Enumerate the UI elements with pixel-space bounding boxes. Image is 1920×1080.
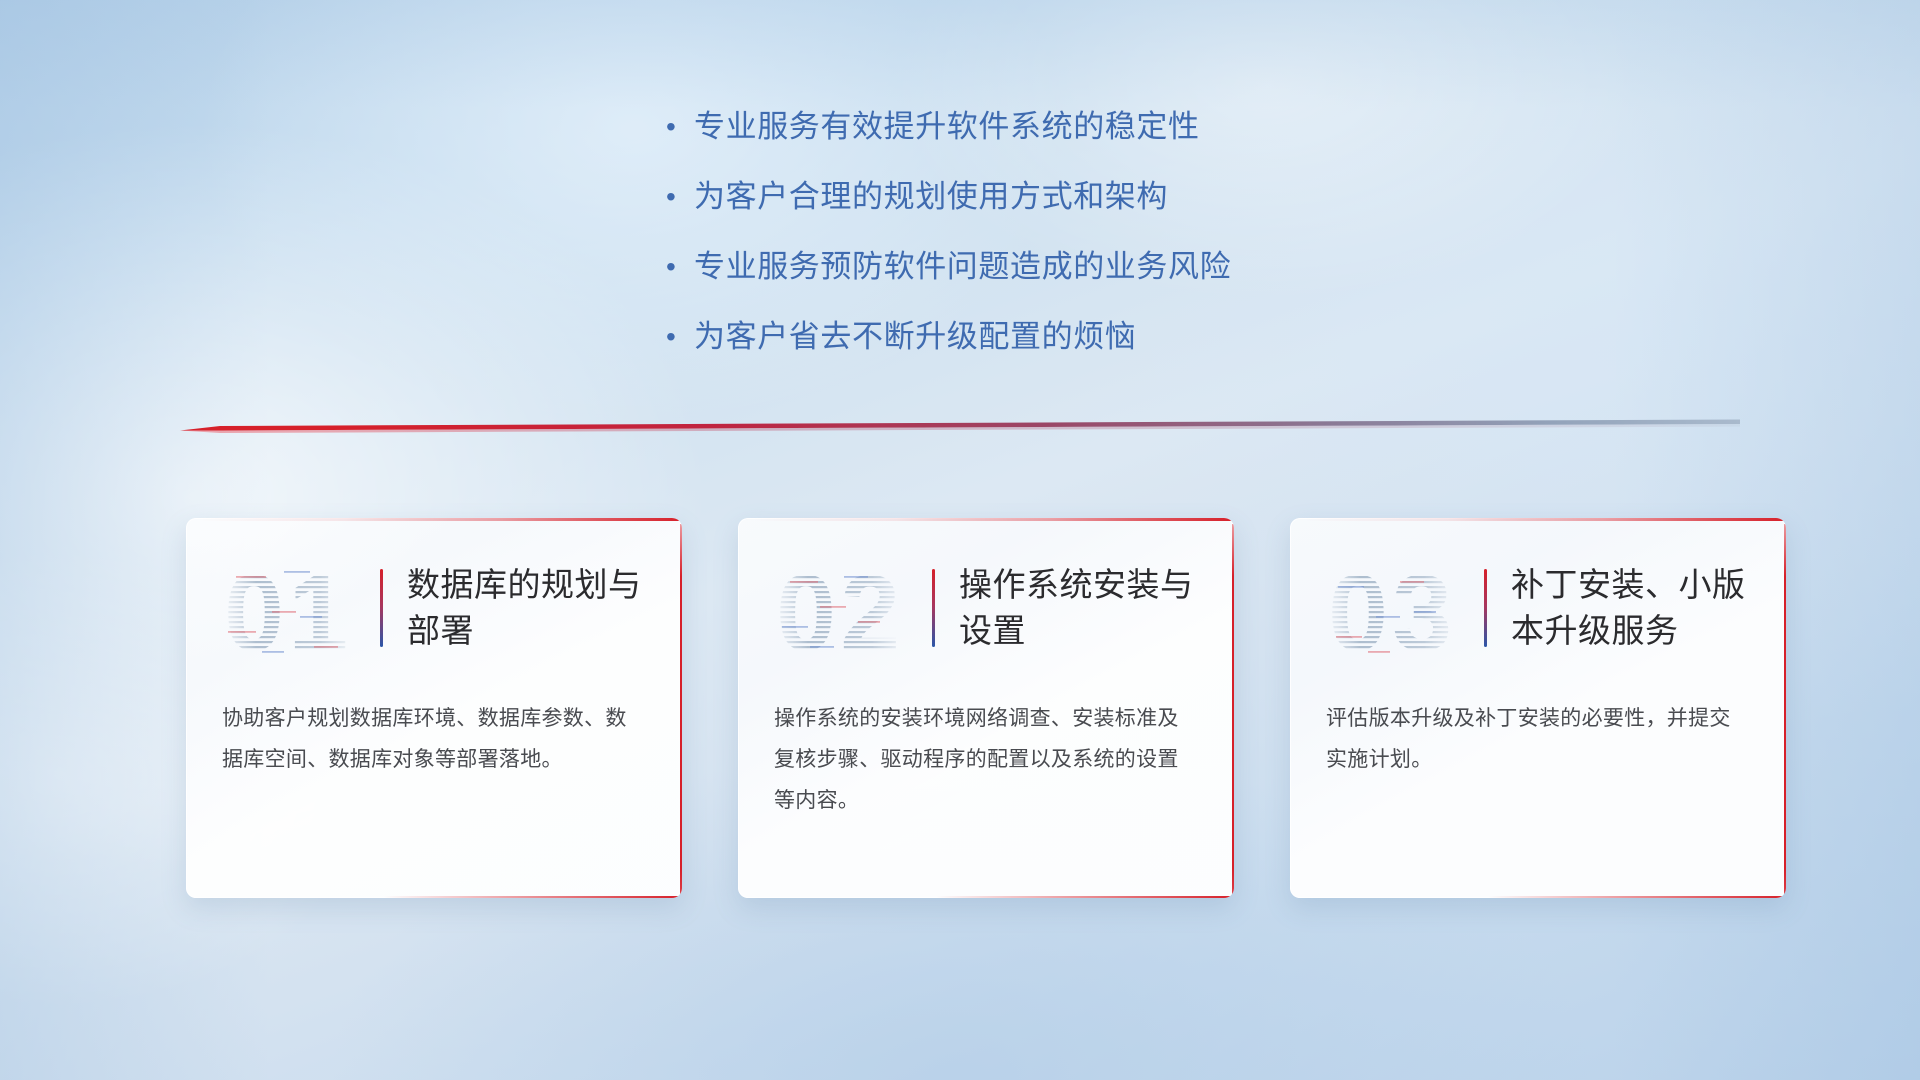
section-divider: [180, 418, 1740, 440]
card-header: 03 补丁安装、小版本升级服务: [1290, 518, 1786, 698]
bullet-text-4: 为客户省去不断升级配置的烦恼: [694, 315, 1136, 359]
bullet-text-2: 为客户合理的规划使用方式和架构: [694, 175, 1168, 219]
card-body-01: 协助客户规划数据库环境、数据库参数、数据库空间、数据库对象等部署落地。: [186, 698, 682, 780]
bullet-dot-icon: •: [660, 175, 694, 219]
feature-card-02[interactable]: 02 操作系统安装与设置: [738, 518, 1234, 898]
svg-text:02: 02: [776, 554, 904, 662]
divider-shape-icon: [180, 418, 1740, 440]
striped-number-icon: 02: [774, 554, 916, 662]
card-number-03-graphic: 03: [1326, 554, 1468, 662]
card-body-text-02: 操作系统的安装环境网络调查、安装标准及复核步骤、驱动程序的配置以及系统的设置等内…: [774, 698, 1198, 821]
card-body-03: 评估版本升级及补丁安装的必要性，并提交实施计划。: [1290, 698, 1786, 780]
card-title-02: 操作系统安装与设置: [959, 562, 1209, 654]
bullet-dot-icon: •: [660, 315, 694, 359]
card-accent-bottom: [1488, 896, 1786, 899]
feature-card-03[interactable]: 03 补丁安装、小版本升级服务: [1290, 518, 1786, 898]
feature-card-01[interactable]: 01 数据库的规划与部署: [186, 518, 682, 898]
card-number-01-graphic: 01: [222, 554, 364, 662]
card-header: 01 数据库的规划与部署: [186, 518, 682, 698]
bullet-dot-icon: •: [660, 245, 694, 289]
card-accent-bottom: [384, 896, 682, 899]
card-number-02-graphic: 02: [774, 554, 916, 662]
bullet-item-2: • 为客户合理的规划使用方式和架构: [660, 175, 1660, 219]
slide-canvas: • 专业服务有效提升软件系统的稳定性 • 为客户合理的规划使用方式和架构 • 专…: [0, 0, 1920, 1080]
card-body-text-01: 协助客户规划数据库环境、数据库参数、数据库空间、数据库对象等部署落地。: [222, 698, 646, 780]
bullet-item-4: • 为客户省去不断升级配置的烦恼: [660, 315, 1660, 359]
bullet-list: • 专业服务有效提升软件系统的稳定性 • 为客户合理的规划使用方式和架构 • 专…: [660, 105, 1660, 385]
svg-text:03: 03: [1328, 554, 1456, 662]
card-title-separator: [1484, 569, 1487, 647]
feature-card-row: 01 数据库的规划与部署: [186, 518, 1786, 910]
bullet-text-1: 专业服务有效提升软件系统的稳定性: [694, 105, 1200, 149]
svg-text:01: 01: [224, 554, 352, 662]
card-title-03: 补丁安装、小版本升级服务: [1511, 562, 1761, 654]
bullet-item-3: • 专业服务预防软件问题造成的业务风险: [660, 245, 1660, 289]
card-title-separator: [932, 569, 935, 647]
bullet-text-3: 专业服务预防软件问题造成的业务风险: [694, 245, 1231, 289]
card-accent-bottom: [936, 896, 1234, 899]
striped-number-icon: 03: [1326, 554, 1468, 662]
bullet-dot-icon: •: [660, 105, 694, 149]
card-body-text-03: 评估版本升级及补丁安装的必要性，并提交实施计划。: [1326, 698, 1750, 780]
card-title-01: 数据库的规划与部署: [407, 562, 657, 654]
card-body-02: 操作系统的安装环境网络调查、安装标准及复核步骤、驱动程序的配置以及系统的设置等内…: [738, 698, 1234, 821]
bullet-item-1: • 专业服务有效提升软件系统的稳定性: [660, 105, 1660, 149]
card-title-separator: [380, 569, 383, 647]
card-header: 02 操作系统安装与设置: [738, 518, 1234, 698]
striped-number-icon: 01: [222, 554, 364, 662]
